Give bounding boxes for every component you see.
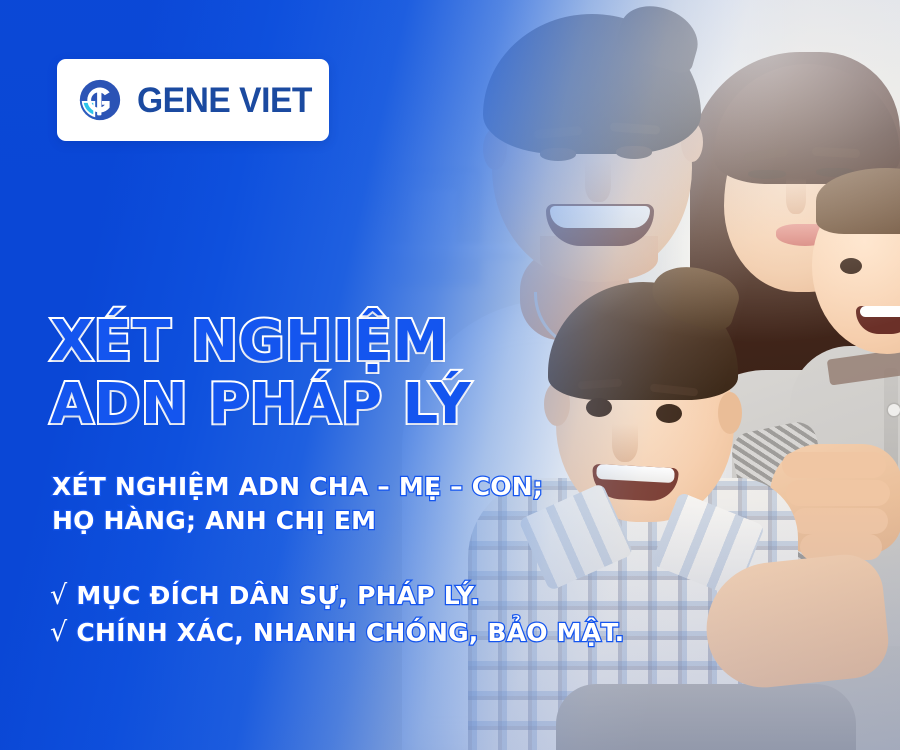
gene-viet-monogram-icon [76, 76, 124, 124]
benefit-list: √ MỤC ĐÍCH DÂN SỰ, PHÁP LÝ. √ CHÍNH XÁC,… [50, 577, 650, 651]
list-item: √ MỤC ĐÍCH DÂN SỰ, PHÁP LÝ. [50, 577, 650, 614]
brand-logo[interactable]: GENE VIET [57, 59, 329, 141]
check-radical-icon: √ [50, 582, 67, 609]
banner: GENE VIET XÉT NGHIỆM ADN PHÁP LÝ XÉT NGH… [0, 0, 900, 750]
headline-line-2: ADN PHÁP LÝ [50, 373, 570, 436]
list-item: √ CHÍNH XÁC, NHANH CHÓNG, BẢO MẬT. [50, 614, 650, 651]
subtitle-line-2: HỌ HÀNG; ANH CHỊ EM [52, 504, 612, 538]
page-title: XÉT NGHIỆM ADN PHÁP LÝ [50, 310, 570, 436]
check-radical-icon: √ [50, 619, 67, 646]
list-item-label: MỤC ĐÍCH DÂN SỰ, PHÁP LÝ. [76, 577, 479, 614]
subtitle-line-1: XÉT NGHIỆM ADN CHA – MẸ – CON; [52, 470, 612, 504]
subtitle: XÉT NGHIỆM ADN CHA – MẸ – CON; HỌ HÀNG; … [52, 470, 612, 538]
list-item-label: CHÍNH XÁC, NHANH CHÓNG, BẢO MẬT. [76, 614, 624, 651]
banner-content: GENE VIET XÉT NGHIỆM ADN PHÁP LÝ XÉT NGH… [0, 0, 900, 750]
brand-name: GENE VIET [137, 83, 312, 118]
headline-line-1: XÉT NGHIỆM [50, 310, 570, 373]
